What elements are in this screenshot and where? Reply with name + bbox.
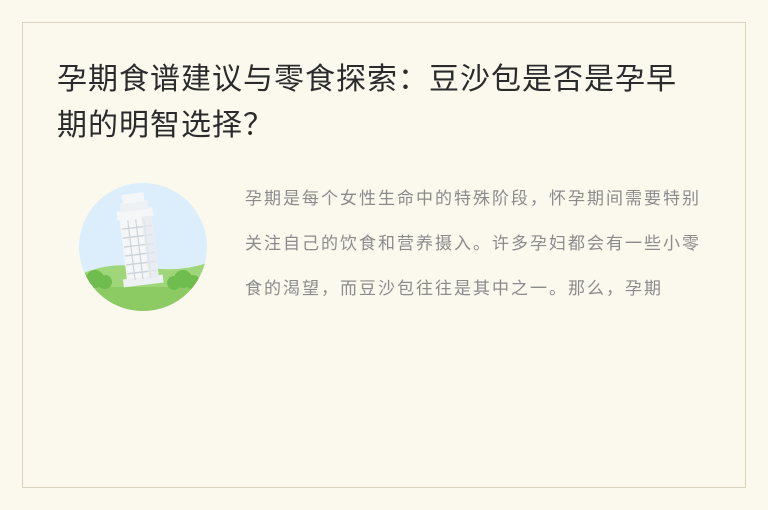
article-body: 孕期是每个女性生命中的特殊阶段，怀孕期间需要特别关注自己的饮食和营养摄入。许多孕…	[245, 177, 711, 312]
article-body-row: 孕期是每个女性生命中的特殊阶段，怀孕期间需要特别关注自己的饮食和营养摄入。许多孕…	[57, 177, 711, 312]
article-frame: 孕期食谱建议与零食探索：豆沙包是否是孕早期的明智选择？	[22, 22, 746, 488]
page-title: 孕期食谱建议与零食探索：豆沙包是否是孕早期的明智选择？	[57, 57, 677, 149]
leaning-tower-of-pisa-illustration	[79, 183, 207, 311]
article-page: 孕期食谱建议与零食探索：豆沙包是否是孕早期的明智选择？	[0, 0, 768, 510]
